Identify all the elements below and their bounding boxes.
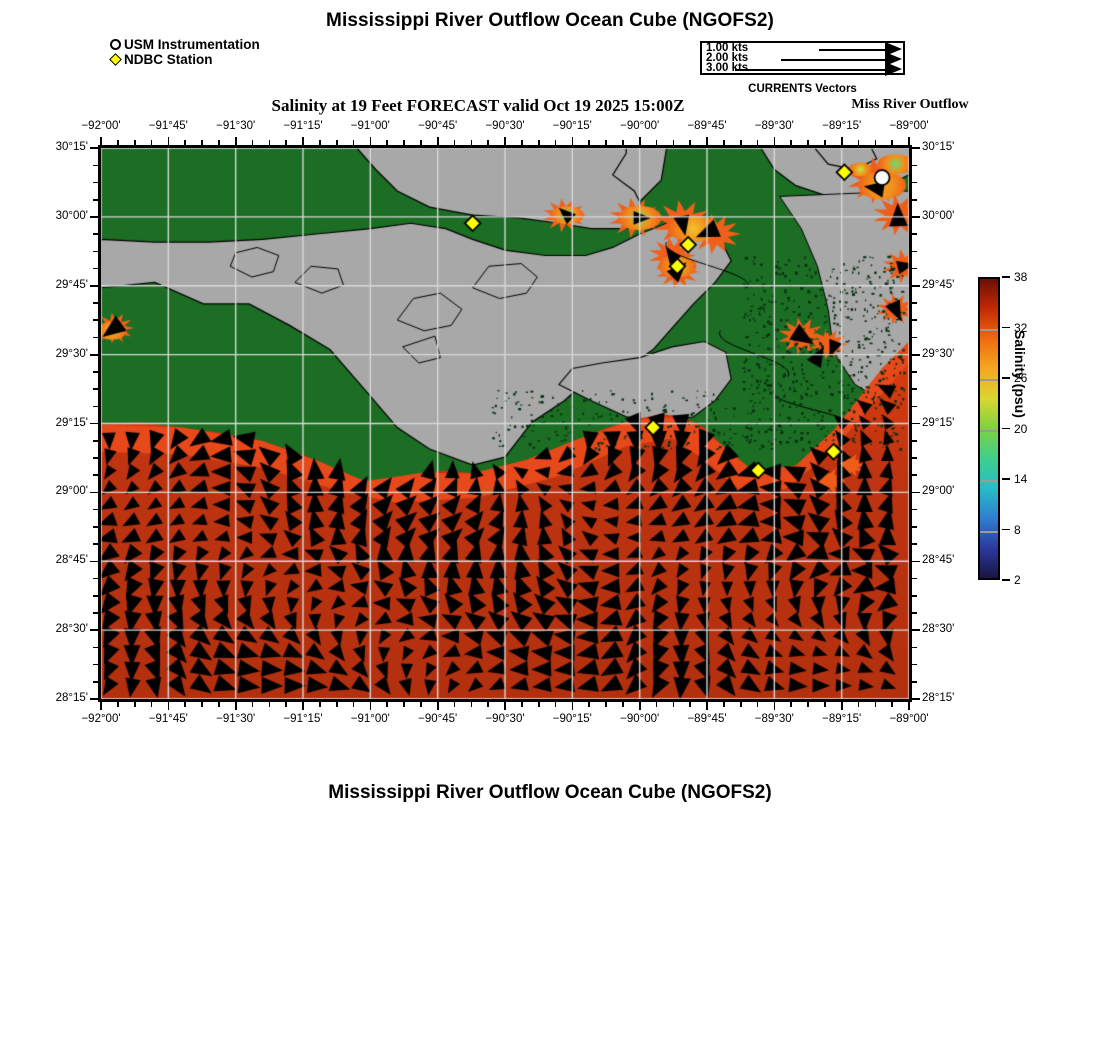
y-minor-tick bbox=[912, 388, 917, 390]
y-minor-tick bbox=[912, 199, 917, 201]
x-minor-tick bbox=[689, 702, 691, 707]
x-minor-tick bbox=[218, 140, 220, 145]
x-minor-tick bbox=[437, 137, 439, 145]
y-minor-tick bbox=[912, 561, 920, 563]
x-minor-tick bbox=[336, 702, 338, 707]
y-axis-label-left-1: 30°00' bbox=[30, 210, 88, 222]
colorbar-inner-tick-20 bbox=[980, 430, 998, 432]
y-axis-label-right-2: 29°45' bbox=[922, 279, 954, 291]
legend-item-ndbc: NDBC Station bbox=[110, 52, 260, 67]
x-minor-tick bbox=[370, 137, 372, 145]
x-minor-tick bbox=[336, 140, 338, 145]
x-minor-tick bbox=[218, 702, 220, 707]
x-minor-tick bbox=[353, 702, 355, 707]
x-minor-tick bbox=[184, 702, 186, 707]
y-axis-label-left-0: 30°15' bbox=[30, 141, 88, 153]
y-axis-label-left-3: 29°30' bbox=[30, 348, 88, 360]
x-minor-tick bbox=[437, 702, 439, 710]
x-minor-tick bbox=[757, 140, 759, 145]
x-minor-tick bbox=[151, 140, 153, 145]
x-minor-tick bbox=[386, 702, 388, 707]
x-axis-label-top-3: −91°15' bbox=[271, 120, 335, 132]
x-axis-label-bottom-9: −89°45' bbox=[675, 713, 739, 725]
y-minor-tick bbox=[93, 251, 98, 253]
y-minor-tick bbox=[912, 423, 920, 425]
y-minor-tick bbox=[90, 629, 98, 631]
y-minor-tick bbox=[912, 319, 917, 321]
y-minor-tick bbox=[912, 440, 917, 442]
x-minor-tick bbox=[841, 702, 843, 710]
x-minor-tick bbox=[252, 702, 254, 707]
colorbar-tick-label-38: 38 bbox=[1014, 271, 1027, 283]
x-minor-tick bbox=[908, 702, 910, 710]
y-minor-tick bbox=[93, 319, 98, 321]
colorbar-tick-20 bbox=[1002, 428, 1010, 430]
x-minor-tick bbox=[588, 140, 590, 145]
x-minor-tick bbox=[673, 702, 675, 707]
y-minor-tick bbox=[93, 440, 98, 442]
x-axis-label-top-10: −89°30' bbox=[742, 120, 806, 132]
y-axis-label-right-8: 28°15' bbox=[922, 692, 954, 704]
y-minor-tick bbox=[912, 216, 920, 218]
y-minor-tick bbox=[90, 285, 98, 287]
y-axis-label-left-7: 28°30' bbox=[30, 623, 88, 635]
y-minor-tick bbox=[912, 406, 917, 408]
x-minor-tick bbox=[689, 140, 691, 145]
x-minor-tick bbox=[100, 137, 102, 145]
x-minor-tick bbox=[151, 702, 153, 707]
x-minor-tick bbox=[235, 702, 237, 710]
y-axis-label-right-3: 29°30' bbox=[922, 348, 954, 360]
y-minor-tick bbox=[912, 681, 917, 683]
x-minor-tick bbox=[370, 702, 372, 710]
x-minor-tick bbox=[605, 140, 607, 145]
x-axis-label-top-11: −89°15' bbox=[810, 120, 874, 132]
x-minor-tick bbox=[504, 137, 506, 145]
y-minor-tick bbox=[93, 457, 98, 459]
x-minor-tick bbox=[420, 702, 422, 707]
y-minor-tick bbox=[93, 406, 98, 408]
y-axis-label-left-4: 29°15' bbox=[30, 417, 88, 429]
x-minor-tick bbox=[319, 140, 321, 145]
x-minor-tick bbox=[807, 140, 809, 145]
vector-legend-row-3: 3.00 kts bbox=[702, 64, 903, 75]
y-minor-tick bbox=[93, 233, 98, 235]
x-axis-label-top-8: −90°00' bbox=[608, 120, 672, 132]
x-minor-tick bbox=[471, 702, 473, 707]
x-minor-tick bbox=[521, 140, 523, 145]
y-minor-tick bbox=[912, 509, 917, 511]
x-minor-tick bbox=[168, 137, 170, 145]
y-minor-tick bbox=[912, 457, 917, 459]
y-minor-tick bbox=[93, 595, 98, 597]
y-minor-tick bbox=[93, 302, 98, 304]
x-minor-tick bbox=[302, 137, 304, 145]
x-minor-tick bbox=[269, 702, 271, 707]
colorbar[interactable] bbox=[978, 277, 1000, 580]
x-minor-tick bbox=[706, 137, 708, 145]
x-axis-label-bottom-2: −91°30' bbox=[204, 713, 268, 725]
y-minor-tick bbox=[90, 698, 98, 700]
x-axis-label-bottom-7: −90°15' bbox=[540, 713, 604, 725]
x-minor-tick bbox=[891, 702, 893, 707]
x-minor-tick bbox=[487, 702, 489, 707]
x-minor-tick bbox=[858, 140, 860, 145]
colorbar-tick-8 bbox=[1002, 529, 1010, 531]
x-minor-tick bbox=[740, 702, 742, 707]
y-minor-tick bbox=[912, 629, 920, 631]
salinity-map-canvas[interactable] bbox=[101, 148, 909, 699]
vector-shaft-2 bbox=[781, 59, 885, 61]
y-minor-tick bbox=[90, 423, 98, 425]
x-axis-label-top-7: −90°15' bbox=[540, 120, 604, 132]
x-minor-tick bbox=[319, 702, 321, 707]
x-minor-tick bbox=[858, 702, 860, 707]
y-axis-label-left-8: 28°15' bbox=[30, 692, 88, 704]
x-minor-tick bbox=[622, 702, 624, 707]
x-minor-tick bbox=[184, 140, 186, 145]
colorbar-tick-38 bbox=[1002, 276, 1010, 278]
x-minor-tick bbox=[639, 137, 641, 145]
y-minor-tick bbox=[90, 354, 98, 356]
x-axis-label-bottom-6: −90°30' bbox=[473, 713, 537, 725]
y-minor-tick bbox=[912, 543, 917, 545]
legend-label-usm: USM Instrumentation bbox=[124, 37, 260, 52]
y-minor-tick bbox=[912, 595, 917, 597]
y-minor-tick bbox=[912, 251, 917, 253]
x-minor-tick bbox=[285, 702, 287, 707]
colorbar-gradient bbox=[980, 279, 998, 578]
x-minor-tick bbox=[285, 140, 287, 145]
x-axis-label-top-0: −92°00' bbox=[69, 120, 133, 132]
vector-shaft-1 bbox=[819, 49, 885, 51]
x-minor-tick bbox=[572, 702, 574, 710]
colorbar-inner-tick-32 bbox=[980, 329, 998, 331]
y-minor-tick bbox=[912, 664, 917, 666]
y-minor-tick bbox=[90, 147, 98, 149]
x-minor-tick bbox=[723, 140, 725, 145]
legend-label-ndbc: NDBC Station bbox=[124, 52, 213, 67]
x-minor-tick bbox=[487, 140, 489, 145]
colorbar-tick-label-2: 2 bbox=[1014, 574, 1021, 586]
x-minor-tick bbox=[521, 702, 523, 707]
y-minor-tick bbox=[90, 561, 98, 563]
x-minor-tick bbox=[605, 702, 607, 707]
y-axis-label-left-5: 29°00' bbox=[30, 485, 88, 497]
marker-legend: USM Instrumentation NDBC Station bbox=[110, 37, 260, 67]
x-minor-tick bbox=[168, 702, 170, 710]
y-minor-tick bbox=[93, 526, 98, 528]
x-minor-tick bbox=[588, 702, 590, 707]
colorbar-inner-tick-8 bbox=[980, 531, 998, 533]
y-minor-tick bbox=[912, 526, 917, 528]
x-axis-label-top-6: −90°30' bbox=[473, 120, 537, 132]
y-axis-label-right-6: 28°45' bbox=[922, 554, 954, 566]
x-minor-tick bbox=[353, 140, 355, 145]
y-minor-tick bbox=[912, 612, 917, 614]
y-minor-tick bbox=[912, 474, 917, 476]
x-minor-tick bbox=[555, 140, 557, 145]
y-minor-tick bbox=[912, 578, 917, 580]
y-axis-label-left-6: 28°45' bbox=[30, 554, 88, 566]
x-minor-tick bbox=[420, 140, 422, 145]
x-axis-label-bottom-8: −90°00' bbox=[608, 713, 672, 725]
x-minor-tick bbox=[454, 140, 456, 145]
y-minor-tick bbox=[912, 647, 917, 649]
panel-label: Miss River Outflow bbox=[760, 97, 1060, 113]
x-minor-tick bbox=[252, 140, 254, 145]
ndbc-diamond-icon bbox=[109, 53, 122, 66]
x-axis-label-top-9: −89°45' bbox=[675, 120, 739, 132]
x-minor-tick bbox=[403, 140, 405, 145]
x-minor-tick bbox=[740, 140, 742, 145]
x-minor-tick bbox=[807, 702, 809, 707]
colorbar-title: Salinity (psu) bbox=[1012, 330, 1028, 530]
currents-vector-legend-caption: CURRENTS Vectors bbox=[700, 83, 905, 95]
y-minor-tick bbox=[93, 647, 98, 649]
x-minor-tick bbox=[504, 702, 506, 710]
x-minor-tick bbox=[572, 137, 574, 145]
x-minor-tick bbox=[117, 140, 119, 145]
x-minor-tick bbox=[656, 140, 658, 145]
x-minor-tick bbox=[235, 137, 237, 145]
y-minor-tick bbox=[90, 216, 98, 218]
x-axis-label-bottom-11: −89°15' bbox=[810, 713, 874, 725]
x-minor-tick bbox=[302, 702, 304, 710]
x-minor-tick bbox=[774, 137, 776, 145]
x-axis-label-bottom-5: −90°45' bbox=[406, 713, 470, 725]
y-minor-tick bbox=[912, 165, 917, 167]
y-axis-label-right-5: 29°00' bbox=[922, 485, 954, 497]
x-minor-tick bbox=[824, 702, 826, 707]
y-minor-tick bbox=[912, 147, 920, 149]
x-minor-tick bbox=[201, 702, 203, 707]
page-title: Mississippi River Outflow Ocean Cube (NG… bbox=[0, 10, 1100, 32]
x-minor-tick bbox=[134, 140, 136, 145]
x-minor-tick bbox=[790, 702, 792, 707]
y-axis-label-left-2: 29°45' bbox=[30, 279, 88, 291]
y-minor-tick bbox=[93, 268, 98, 270]
y-minor-tick bbox=[93, 371, 98, 373]
y-minor-tick bbox=[93, 388, 98, 390]
x-minor-tick bbox=[639, 702, 641, 710]
colorbar-tick-32 bbox=[1002, 327, 1010, 329]
y-minor-tick bbox=[912, 233, 917, 235]
colorbar-tick-26 bbox=[1002, 377, 1010, 379]
x-minor-tick bbox=[100, 702, 102, 710]
y-minor-tick bbox=[912, 337, 917, 339]
map-plot-area[interactable] bbox=[98, 145, 912, 702]
y-minor-tick bbox=[912, 492, 920, 494]
colorbar-tick-2 bbox=[1002, 579, 1010, 581]
y-axis-label-right-7: 28°30' bbox=[922, 623, 954, 635]
x-minor-tick bbox=[757, 702, 759, 707]
y-minor-tick bbox=[912, 698, 920, 700]
x-minor-tick bbox=[555, 702, 557, 707]
x-minor-tick bbox=[386, 140, 388, 145]
y-axis-label-right-4: 29°15' bbox=[922, 417, 954, 429]
x-minor-tick bbox=[454, 702, 456, 707]
x-minor-tick bbox=[875, 702, 877, 707]
x-minor-tick bbox=[891, 140, 893, 145]
x-minor-tick bbox=[471, 140, 473, 145]
legend-item-usm: USM Instrumentation bbox=[110, 37, 260, 52]
y-minor-tick bbox=[912, 268, 917, 270]
x-axis-label-top-2: −91°30' bbox=[204, 120, 268, 132]
usm-circle-icon bbox=[110, 39, 121, 50]
y-minor-tick bbox=[912, 182, 917, 184]
x-axis-label-bottom-0: −92°00' bbox=[69, 713, 133, 725]
y-minor-tick bbox=[93, 543, 98, 545]
x-minor-tick bbox=[790, 140, 792, 145]
y-minor-tick bbox=[93, 664, 98, 666]
x-axis-label-top-12: −89°00' bbox=[877, 120, 941, 132]
y-minor-tick bbox=[93, 165, 98, 167]
y-minor-tick bbox=[93, 199, 98, 201]
x-minor-tick bbox=[774, 702, 776, 710]
x-minor-tick bbox=[622, 140, 624, 145]
y-minor-tick bbox=[912, 371, 917, 373]
plot-subtitle: Salinity at 19 Feet FORECAST valid Oct 1… bbox=[98, 96, 858, 116]
x-axis-label-bottom-1: −91°45' bbox=[136, 713, 200, 725]
x-axis-label-bottom-10: −89°30' bbox=[742, 713, 806, 725]
x-axis-label-bottom-4: −91°00' bbox=[338, 713, 402, 725]
x-minor-tick bbox=[908, 137, 910, 145]
x-minor-tick bbox=[723, 702, 725, 707]
y-minor-tick bbox=[93, 681, 98, 683]
y-axis-label-right-1: 30°00' bbox=[922, 210, 954, 222]
bottom-caption: Mississippi River Outflow Ocean Cube (NG… bbox=[0, 782, 1100, 804]
y-minor-tick bbox=[912, 354, 920, 356]
x-minor-tick bbox=[269, 140, 271, 145]
x-minor-tick bbox=[841, 137, 843, 145]
x-minor-tick bbox=[673, 140, 675, 145]
x-minor-tick bbox=[134, 702, 136, 707]
y-minor-tick bbox=[912, 302, 917, 304]
x-axis-label-bottom-3: −91°15' bbox=[271, 713, 335, 725]
y-minor-tick bbox=[93, 474, 98, 476]
x-minor-tick bbox=[824, 140, 826, 145]
y-minor-tick bbox=[93, 182, 98, 184]
y-minor-tick bbox=[93, 612, 98, 614]
x-minor-tick bbox=[656, 702, 658, 707]
vector-arrowhead-3 bbox=[885, 62, 902, 76]
x-minor-tick bbox=[201, 140, 203, 145]
colorbar-inner-tick-14 bbox=[980, 480, 998, 482]
colorbar-tick-14 bbox=[1002, 478, 1010, 480]
colorbar-inner-tick-26 bbox=[980, 379, 998, 381]
x-minor-tick bbox=[706, 702, 708, 710]
x-axis-label-top-5: −90°45' bbox=[406, 120, 470, 132]
x-axis-label-top-4: −91°00' bbox=[338, 120, 402, 132]
y-minor-tick bbox=[912, 285, 920, 287]
vector-shaft-3 bbox=[735, 69, 885, 71]
y-minor-tick bbox=[90, 492, 98, 494]
x-axis-label-top-1: −91°45' bbox=[136, 120, 200, 132]
x-axis-label-bottom-12: −89°00' bbox=[877, 713, 941, 725]
y-axis-label-right-0: 30°15' bbox=[922, 141, 954, 153]
y-minor-tick bbox=[93, 578, 98, 580]
y-minor-tick bbox=[93, 337, 98, 339]
x-minor-tick bbox=[403, 702, 405, 707]
x-minor-tick bbox=[875, 140, 877, 145]
y-minor-tick bbox=[93, 509, 98, 511]
currents-vector-legend: 1.00 kts 2.00 kts 3.00 kts bbox=[700, 41, 905, 75]
x-minor-tick bbox=[538, 702, 540, 707]
x-minor-tick bbox=[538, 140, 540, 145]
x-minor-tick bbox=[117, 702, 119, 707]
